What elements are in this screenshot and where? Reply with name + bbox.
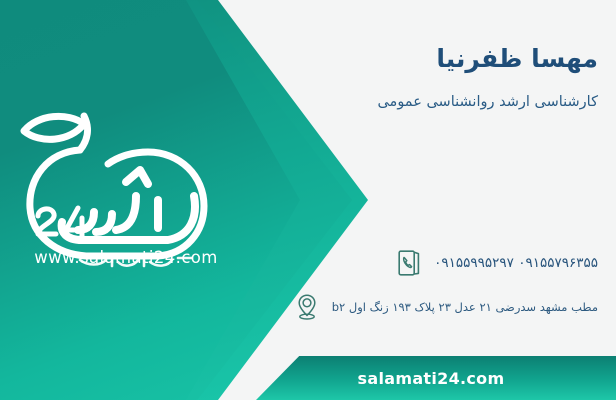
card-details: مهسا ظفرنیا کارشناسی ارشد روانشناسی عموم… [296,0,616,400]
address-text: مطب مشهد سدرضی ۲۱ عدل ۲۳ پلاک ۱۹۳ زنگ او… [332,300,598,314]
phone-book-icon [396,248,422,278]
logo-website-url: www.salamati24.com [8,248,244,267]
person-title: کارشناسی ارشد روانشناسی عمومی [377,94,598,110]
business-card: www.salamati24.com مهسا ظفرنیا کارشناسی … [0,0,616,400]
phone-row: ۰۹۱۵۵۷۹۶۳۵۵ ۰۹۱۵۵۹۹۵۲۹۷ [396,248,598,278]
person-name: مهسا ظفرنیا [436,44,598,73]
map-pin-icon [294,292,320,322]
address-row: مطب مشهد سدرضی ۲۱ عدل ۲۳ پلاک ۱۹۳ زنگ او… [294,292,598,322]
phone-numbers: ۰۹۱۵۵۷۹۶۳۵۵ ۰۹۱۵۵۹۹۵۲۹۷ [434,255,598,271]
